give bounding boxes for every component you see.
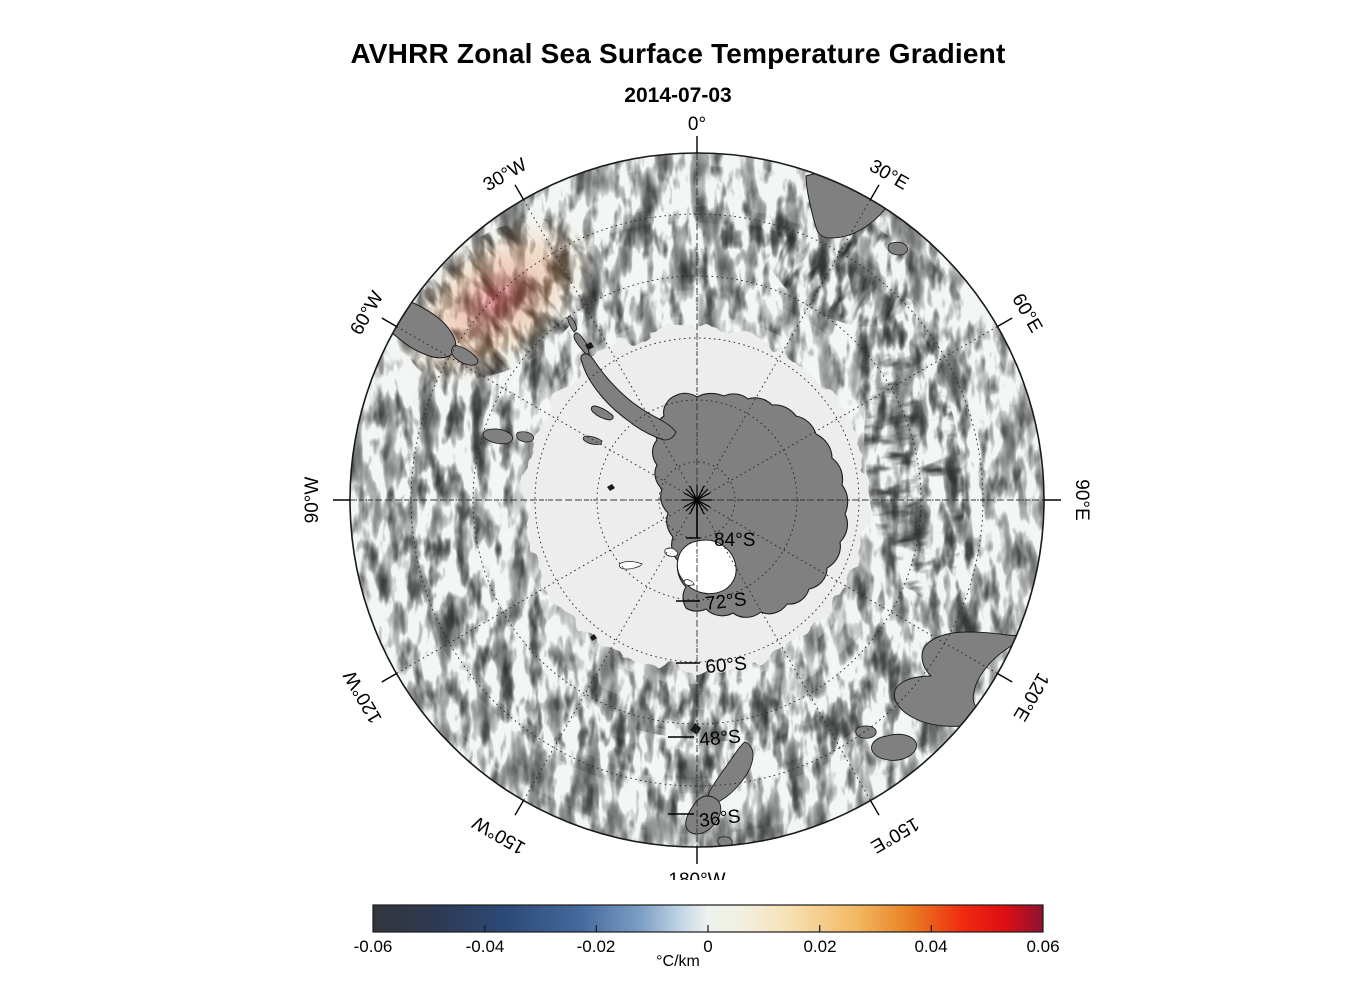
lat-label-60: 60°S — [705, 653, 748, 678]
polar-map: 84°S 72°S 60°S 48°S 36°S 0° 30°E 60°E 90… — [0, 0, 1356, 880]
lon-label-150E: 150°E — [867, 813, 923, 857]
lon-label-90W: 90°W — [302, 477, 323, 524]
lat-label-48: 48°S — [699, 726, 742, 751]
lon-label-30E: 30°E — [866, 156, 912, 195]
lat-label-84: 84°S — [714, 530, 755, 551]
lon-label-60W: 60°W — [346, 288, 388, 339]
colorbar-unit-label: °C/km — [0, 953, 1356, 971]
data-disk — [330, 133, 1064, 867]
lon-label-30W: 30°W — [480, 154, 531, 196]
lon-label-120E: 120°E — [1009, 669, 1053, 725]
colorbar: -0.06 -0.04 -0.02 0 0.02 0.04 0.06 °C/km — [0, 895, 1356, 1000]
lon-label-120W: 120°W — [340, 667, 387, 727]
lon-label-60E: 60°E — [1007, 290, 1046, 336]
lon-label-90E: 90°E — [1071, 479, 1092, 520]
lon-label-180W: 180°W — [668, 870, 725, 880]
lon-label-0: 0° — [688, 114, 706, 135]
map-svg: 84°S 72°S 60°S 48°S 36°S 0° 30°E 60°E 90… — [0, 0, 1356, 880]
lon-label-150W: 150°W — [469, 811, 529, 858]
